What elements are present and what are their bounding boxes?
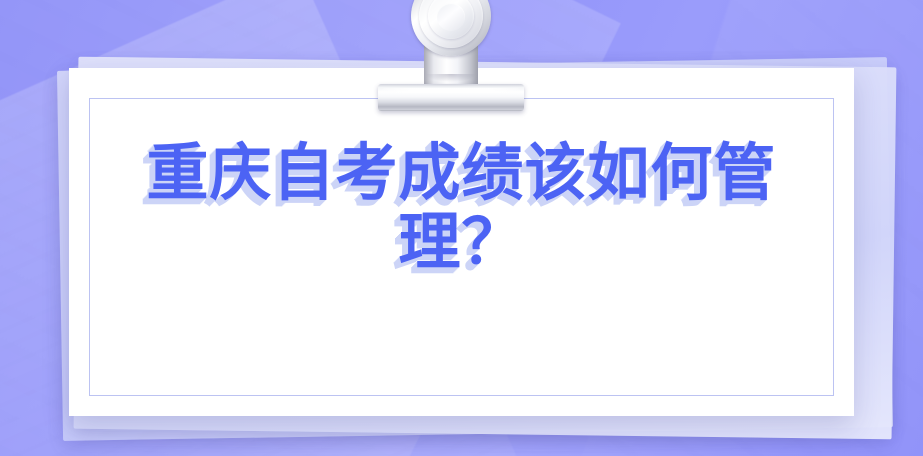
binder-clip-bar-highlight [382,88,520,93]
binder-clip-head-center [437,3,465,31]
binder-clip-icon [378,0,524,112]
card-inner-border [89,98,834,396]
poster-canvas: 重庆自考成绩该如何管理？ [0,0,923,456]
white-card [69,68,854,416]
